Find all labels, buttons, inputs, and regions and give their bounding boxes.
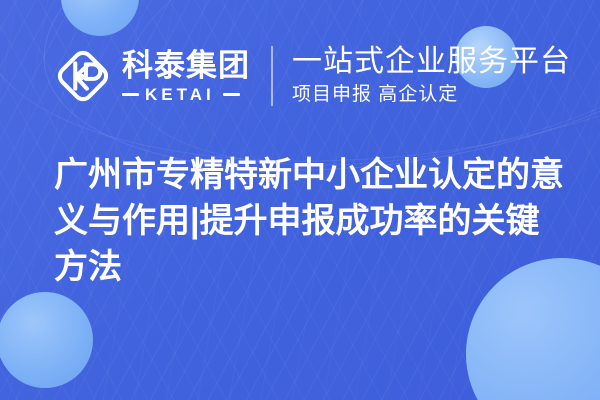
decorative-circle-left-bottom: [0, 292, 93, 388]
brand-name-en-row: KETAI: [122, 86, 250, 103]
tagline-sub: 项目申报 高企认定: [292, 85, 571, 106]
brand-name-en: KETAI: [145, 86, 215, 103]
ketai-diamond-monogram-icon: [54, 47, 112, 105]
brand-tagline: 一站式企业服务平台 项目申报 高企认定: [292, 46, 571, 105]
wordmark-dash-left: [122, 93, 139, 96]
brand-wordmark: 科泰集团 KETAI: [122, 50, 250, 103]
header-divider: [271, 46, 273, 106]
brand-name-cn: 科泰集团: [122, 50, 250, 81]
tagline-main: 一站式企业服务平台: [292, 46, 571, 78]
article-banner: 科泰集团 KETAI 一站式企业服务平台 项目申报 高企认定 广州市专精特新中小…: [0, 0, 600, 400]
decorative-circle-top: [61, 0, 139, 36]
page-title: 广州市专精特新中小企业认定的意义与作用|提升申报成功率的关键方法: [54, 152, 564, 290]
brand-logo[interactable]: 科泰集团 KETAI: [54, 47, 250, 105]
banner-header: 科泰集团 KETAI 一站式企业服务平台 项目申报 高企认定: [0, 38, 600, 114]
wordmark-dash-right: [223, 93, 240, 96]
